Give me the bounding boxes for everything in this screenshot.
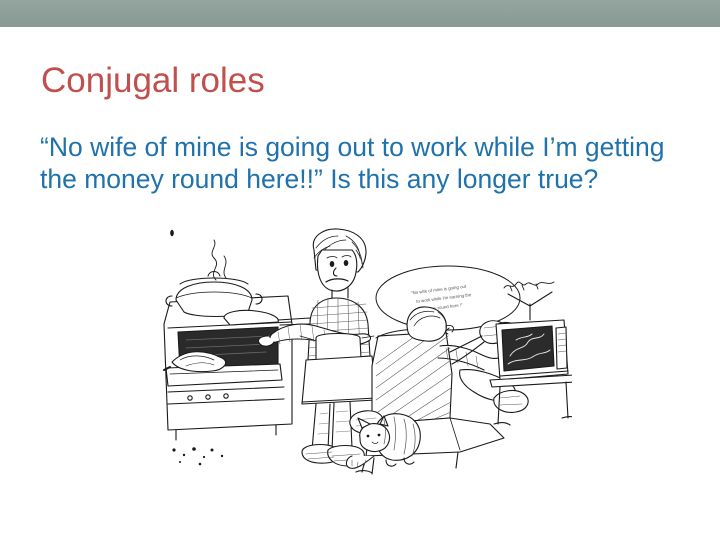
ink-dot <box>170 230 174 236</box>
body-paragraph: “No wife of mine is going out to work wh… <box>40 131 685 195</box>
page-title: Conjugal roles <box>41 60 265 101</box>
cartoon-svg: “No wife of mine is going out to work wh… <box>160 228 572 500</box>
slide: Conjugal roles “No wife of mine is going… <box>0 0 720 539</box>
floor-speckles <box>172 447 223 465</box>
cartoon-illustration: “No wife of mine is going out to work wh… <box>160 228 572 500</box>
top-banner <box>0 0 720 27</box>
banner-gradient <box>0 0 720 27</box>
